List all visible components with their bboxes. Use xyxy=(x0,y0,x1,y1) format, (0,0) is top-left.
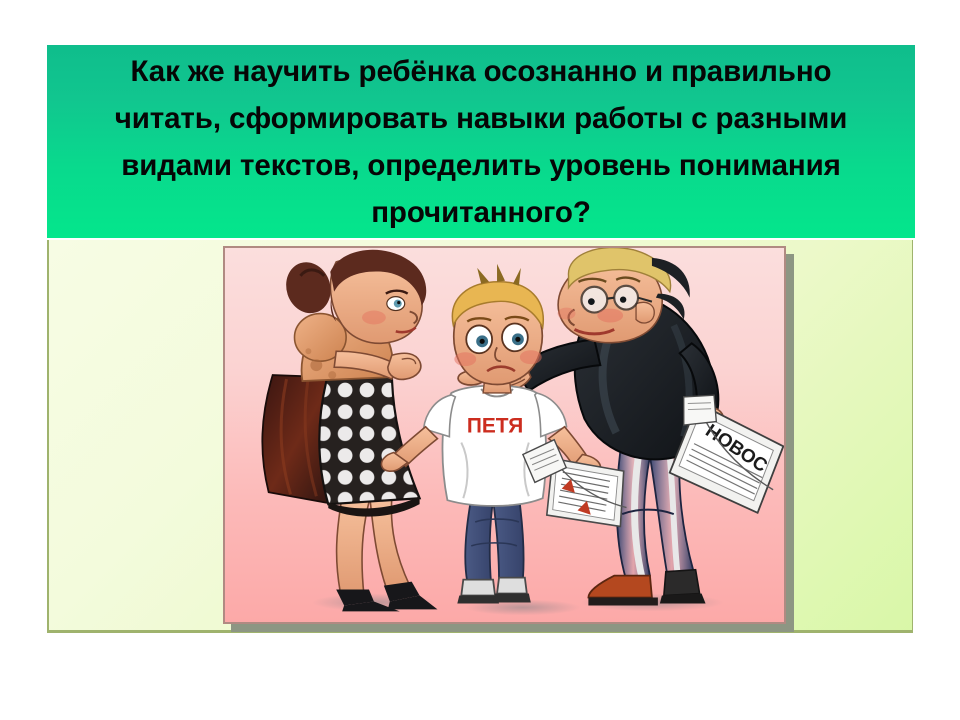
boy-shirt-label: ПЕТЯ xyxy=(467,415,523,438)
cartoon-illustration: ПЕТЯ xyxy=(223,246,786,624)
slide-root: Как же научить ребёнка осознанно и прави… xyxy=(0,0,960,720)
page-title: Как же научить ребёнка осознанно и прави… xyxy=(57,48,905,236)
cartoon-artwork: ПЕТЯ xyxy=(225,248,784,623)
title-banner: Как же научить ребёнка осознанно и прави… xyxy=(47,45,915,238)
mother-figure xyxy=(262,250,437,612)
